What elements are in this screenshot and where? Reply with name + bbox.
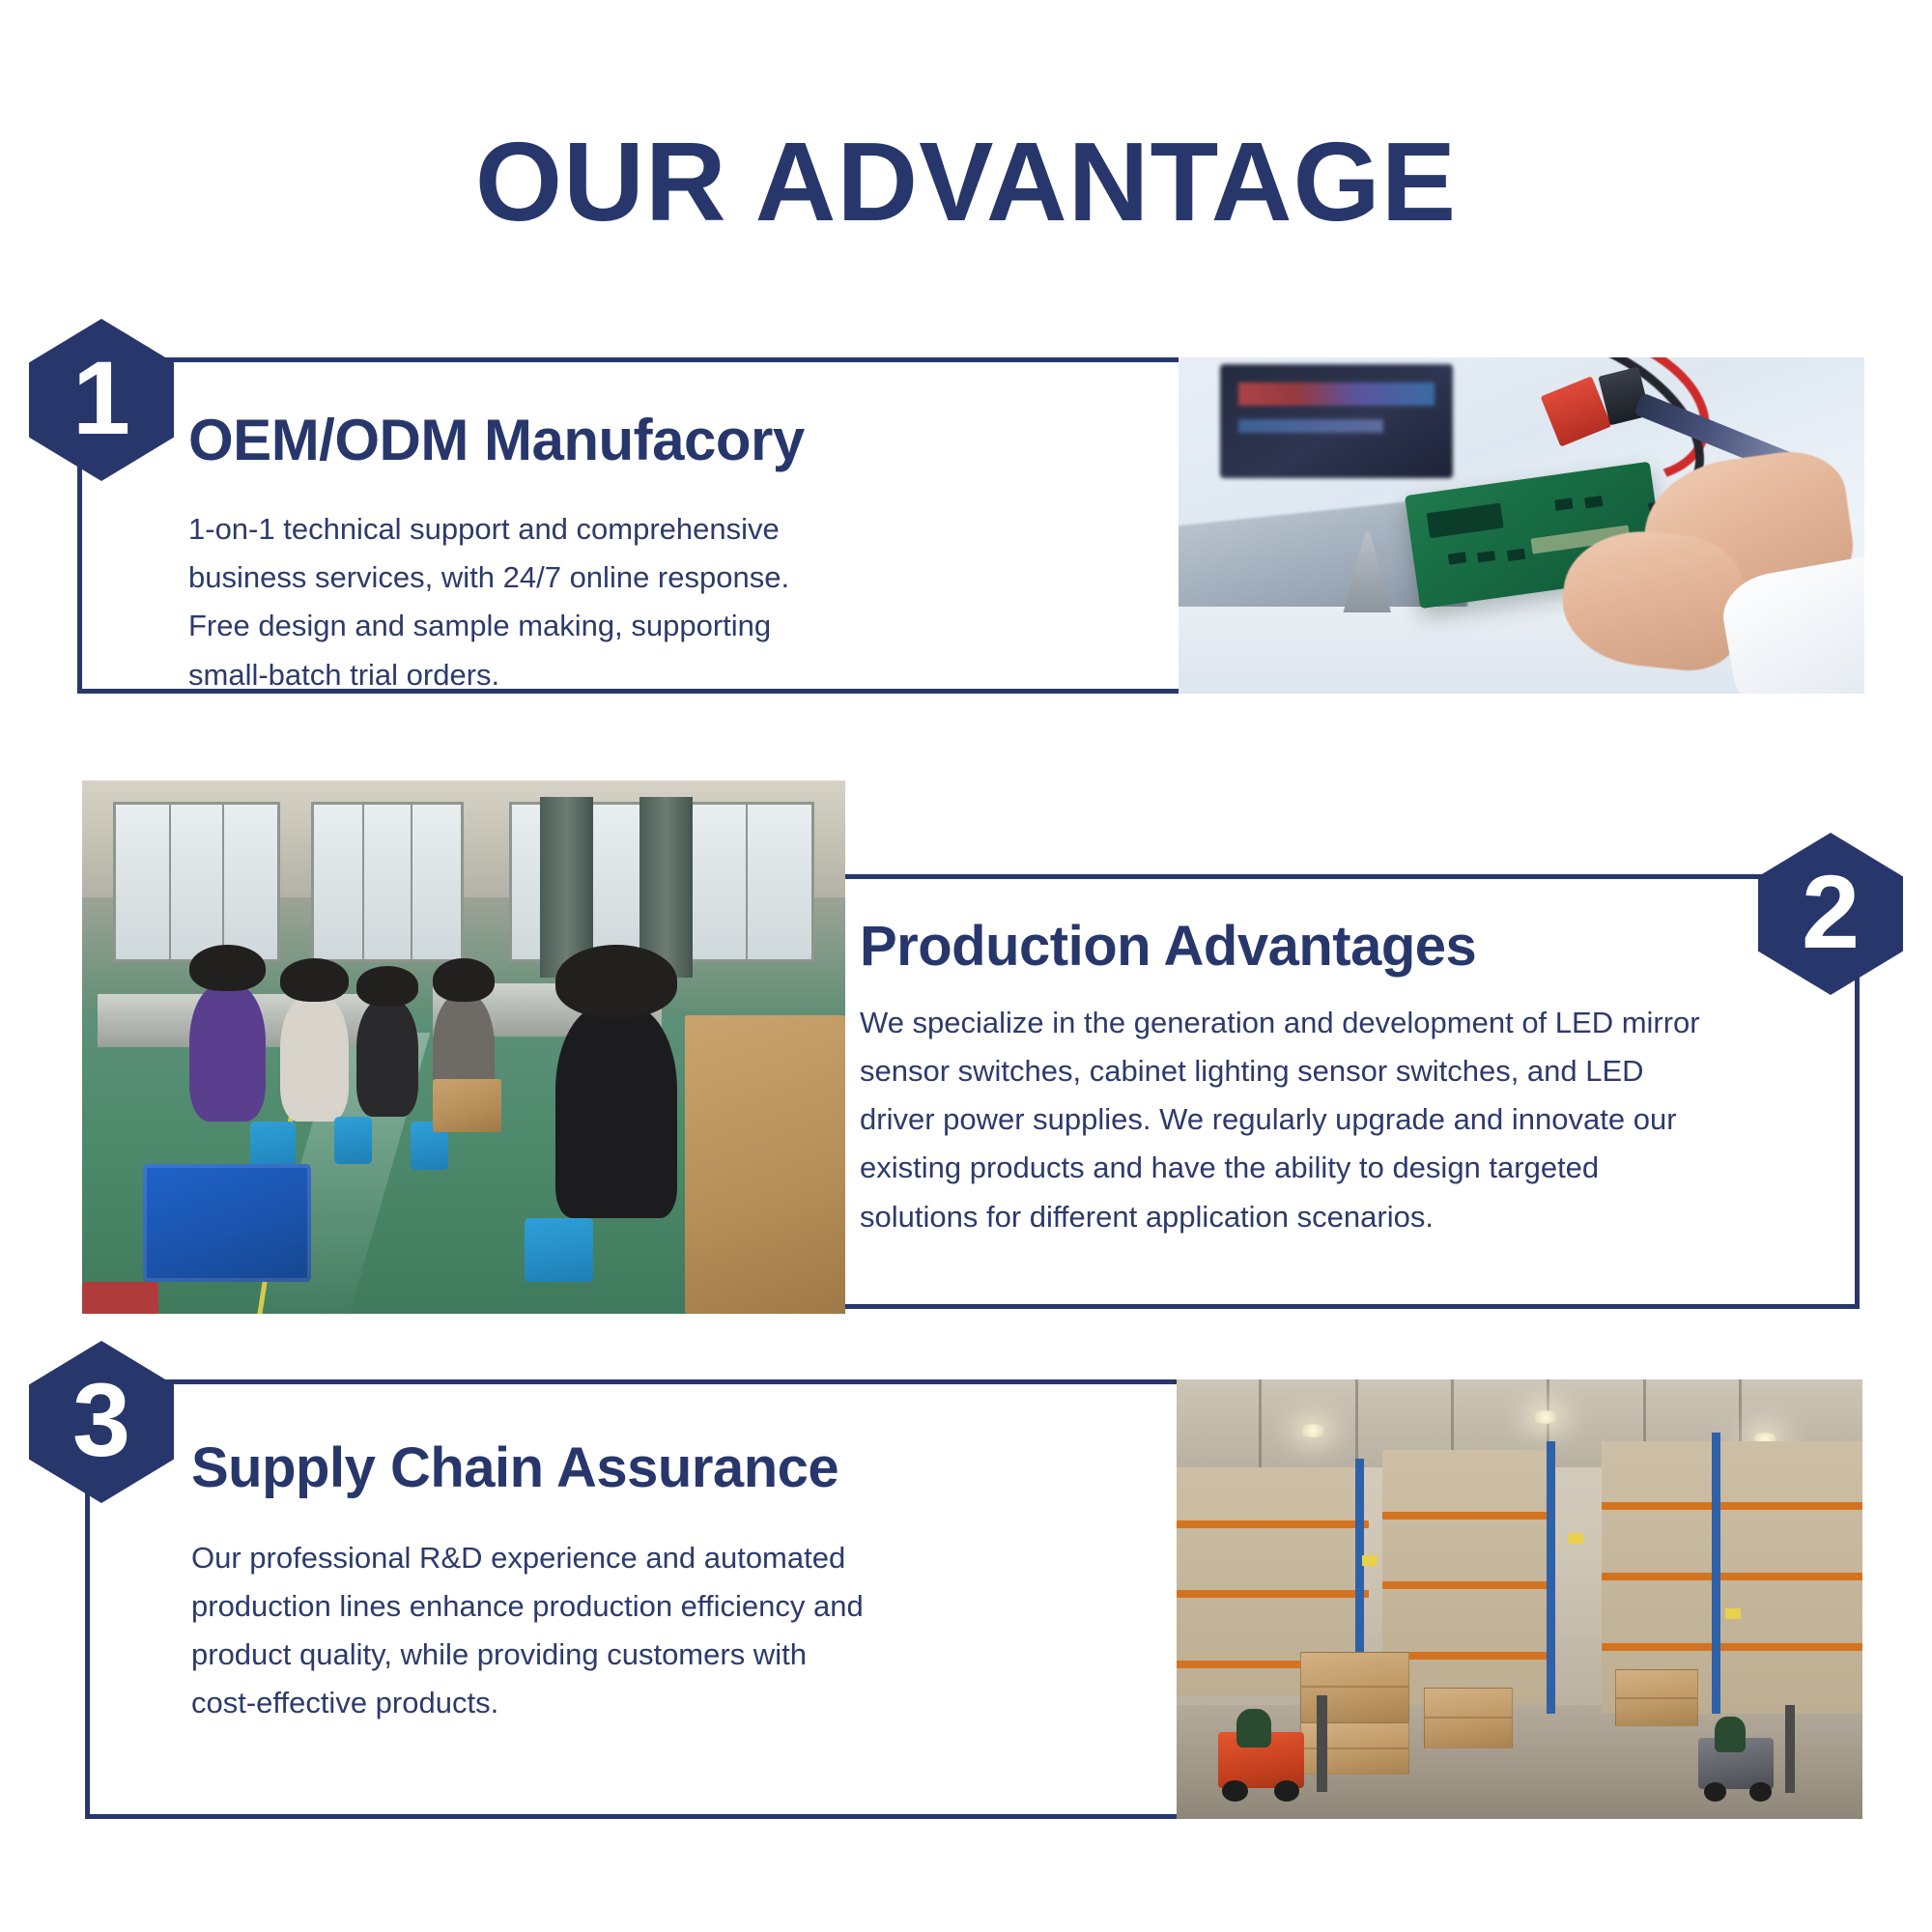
advantage-card-1: OEM/ODM Manufacory 1-on-1 technical supp… xyxy=(77,357,1864,694)
card-2-body: We specialize in the generation and deve… xyxy=(860,999,1719,1241)
card-1-body: 1-on-1 technical support and comprehensi… xyxy=(188,505,855,699)
forklift-right xyxy=(1698,1714,1802,1802)
card-1-image xyxy=(1179,357,1864,694)
card-1-heading: OEM/ODM Manufacory xyxy=(188,409,894,472)
card-2-text-block: Production Advantages We specialize in t… xyxy=(860,879,1855,1241)
card-3-heading: Supply Chain Assurance xyxy=(191,1437,901,1499)
card-1-text-block: OEM/ODM Manufacory 1-on-1 technical supp… xyxy=(82,362,894,689)
our-advantage-page: OUR ADVANTAGE OEM/ODM Manufacory 1-on-1 … xyxy=(0,0,1932,1932)
card-3-number: 3 xyxy=(72,1368,130,1472)
forklift-left xyxy=(1218,1705,1335,1802)
card-2-number: 2 xyxy=(1802,860,1860,964)
advantage-card-2: Production Advantages We specialize in t… xyxy=(82,874,1860,1309)
card-3-text-block: Supply Chain Assurance Our professional … xyxy=(90,1384,901,1814)
card-1-number: 1 xyxy=(72,346,130,450)
card-2-image xyxy=(82,781,845,1314)
card-2-heading: Production Advantages xyxy=(860,916,1820,978)
card-3-body: Our professional R&D experience and auto… xyxy=(191,1534,867,1728)
card-3-image xyxy=(1177,1379,1862,1819)
page-title: OUR ADVANTAGE xyxy=(0,124,1932,241)
advantage-card-3: Supply Chain Assurance Our professional … xyxy=(85,1379,1862,1819)
